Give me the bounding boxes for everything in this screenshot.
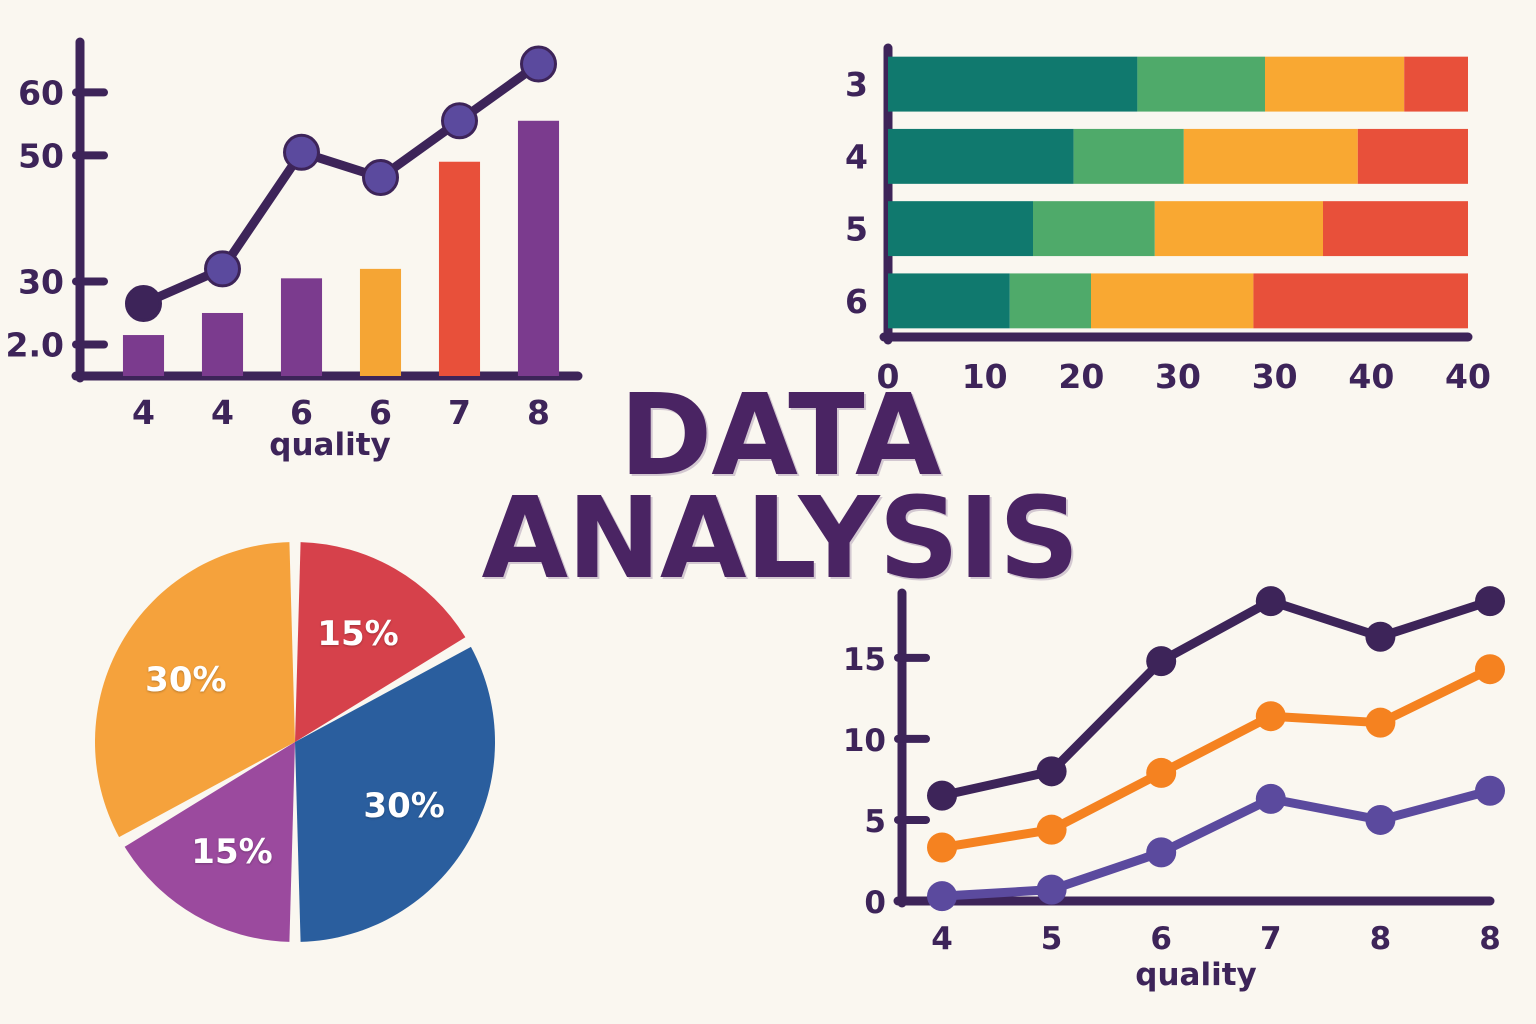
bar-series [123, 121, 559, 376]
line-marker [1365, 622, 1395, 652]
line-marker [1037, 875, 1067, 905]
x-tick-label: 7 [1260, 921, 1282, 957]
x-tick-label: 40 [1445, 357, 1491, 396]
stacked-segment [888, 57, 1137, 112]
stacked-segment [1404, 57, 1468, 112]
stacked-bar-rows [888, 57, 1468, 329]
pie-slice-label: 15% [191, 832, 272, 872]
title-line-data: DATA [440, 385, 1120, 488]
line-marker [1475, 654, 1505, 684]
line-marker [1037, 815, 1067, 845]
line-path [942, 601, 1490, 796]
category-label: 5 [845, 210, 868, 249]
pie-slice-label: 30% [145, 660, 226, 700]
y-tick-label: 60 [18, 73, 64, 112]
line-marker [206, 252, 240, 286]
stacked-segment [1323, 201, 1468, 256]
multi-line-svg: 051015 456788 quality [830, 545, 1536, 1015]
y-tick-label: 2.0 [6, 325, 64, 364]
bar [202, 313, 243, 376]
x-tick-label: 30 [1155, 357, 1201, 396]
y-tick-label: 5 [864, 804, 886, 840]
y-axis-tick-labels: 051015 [843, 642, 886, 921]
stacked-segment [1253, 273, 1468, 328]
x-tick-label: 4 [132, 393, 155, 432]
x-tick-label: 8 [1370, 921, 1392, 957]
y-axis-tick-labels: 6050302.0 [6, 73, 64, 364]
line-marker [443, 104, 477, 138]
line-series-group [927, 586, 1505, 911]
line-marker [927, 881, 957, 911]
category-label: 6 [845, 282, 868, 321]
stacked-segment [1137, 57, 1265, 112]
infographic-poster: 6050302.0 446678 quality 3456 0102030304… [0, 0, 1536, 1024]
stacked-segment [1010, 273, 1091, 328]
y-tick-label: 10 [843, 723, 886, 759]
line-marker [927, 833, 957, 863]
x-axis-tick-labels: 456788 [931, 921, 1501, 957]
line-marker [1256, 784, 1286, 814]
bar [439, 162, 480, 376]
line-marker [1475, 586, 1505, 616]
stacked-segment [888, 273, 1010, 328]
stacked-segment [1155, 201, 1323, 256]
line-path [942, 791, 1490, 896]
line-marker [522, 47, 556, 81]
x-tick-label: 6 [1150, 921, 1172, 957]
line-marker [1365, 708, 1395, 738]
line-marker [1475, 776, 1505, 806]
pie-slice-label: 15% [317, 614, 398, 654]
line-marker [1256, 701, 1286, 731]
category-label: 4 [845, 137, 868, 176]
stacked-segment [1074, 129, 1184, 184]
line-marker [1256, 586, 1286, 616]
x-tick-label: 40 [1348, 357, 1394, 396]
stacked-segment [1091, 273, 1253, 328]
line-marker [1037, 756, 1067, 786]
x-tick-label: 4 [211, 393, 234, 432]
x-tick-label: 5 [1041, 921, 1063, 957]
pie-slices [95, 542, 495, 942]
stacked-segment [888, 129, 1074, 184]
category-labels: 3456 [845, 65, 868, 321]
stacked-segment [1033, 201, 1155, 256]
stacked-segment [1184, 129, 1358, 184]
y-tick-label: 30 [18, 262, 64, 301]
chart-multi-line: 051015 456788 quality [830, 545, 1536, 1015]
y-tick-label: 15 [843, 642, 886, 678]
line-marker [285, 135, 319, 169]
stacked-segment [888, 201, 1033, 256]
title-line-analysis: ANALYSIS [440, 488, 1120, 591]
stacked-segment [1358, 129, 1468, 184]
line-marker [1146, 837, 1176, 867]
overlay-line-series [127, 47, 556, 320]
stacked-segment [1265, 57, 1404, 112]
x-tick-label: 4 [931, 921, 953, 957]
x-tick-label: 8 [1479, 921, 1501, 957]
pie-slice-label: 30% [363, 786, 444, 826]
y-tick-label: 50 [18, 136, 64, 175]
chart-stacked-horizontal: 3456 0102030304040 [820, 10, 1536, 410]
stacked-bar-svg: 3456 0102030304040 [820, 10, 1536, 410]
bar [123, 335, 164, 376]
line-marker [927, 781, 957, 811]
x-axis-title: quality [269, 427, 390, 463]
line-marker [1146, 646, 1176, 676]
y-tick-label: 0 [864, 885, 886, 921]
category-label: 3 [845, 65, 868, 104]
line-marker [127, 287, 161, 321]
bar [518, 121, 559, 376]
bar [360, 269, 401, 376]
line-marker [1146, 758, 1176, 788]
poster-title-block: DATA ANALYSIS [440, 385, 1120, 615]
line-marker [1365, 805, 1395, 835]
bar [281, 278, 322, 376]
x-tick-label: 30 [1252, 357, 1298, 396]
line-marker [364, 160, 398, 194]
x-axis-title: quality [1135, 957, 1256, 993]
